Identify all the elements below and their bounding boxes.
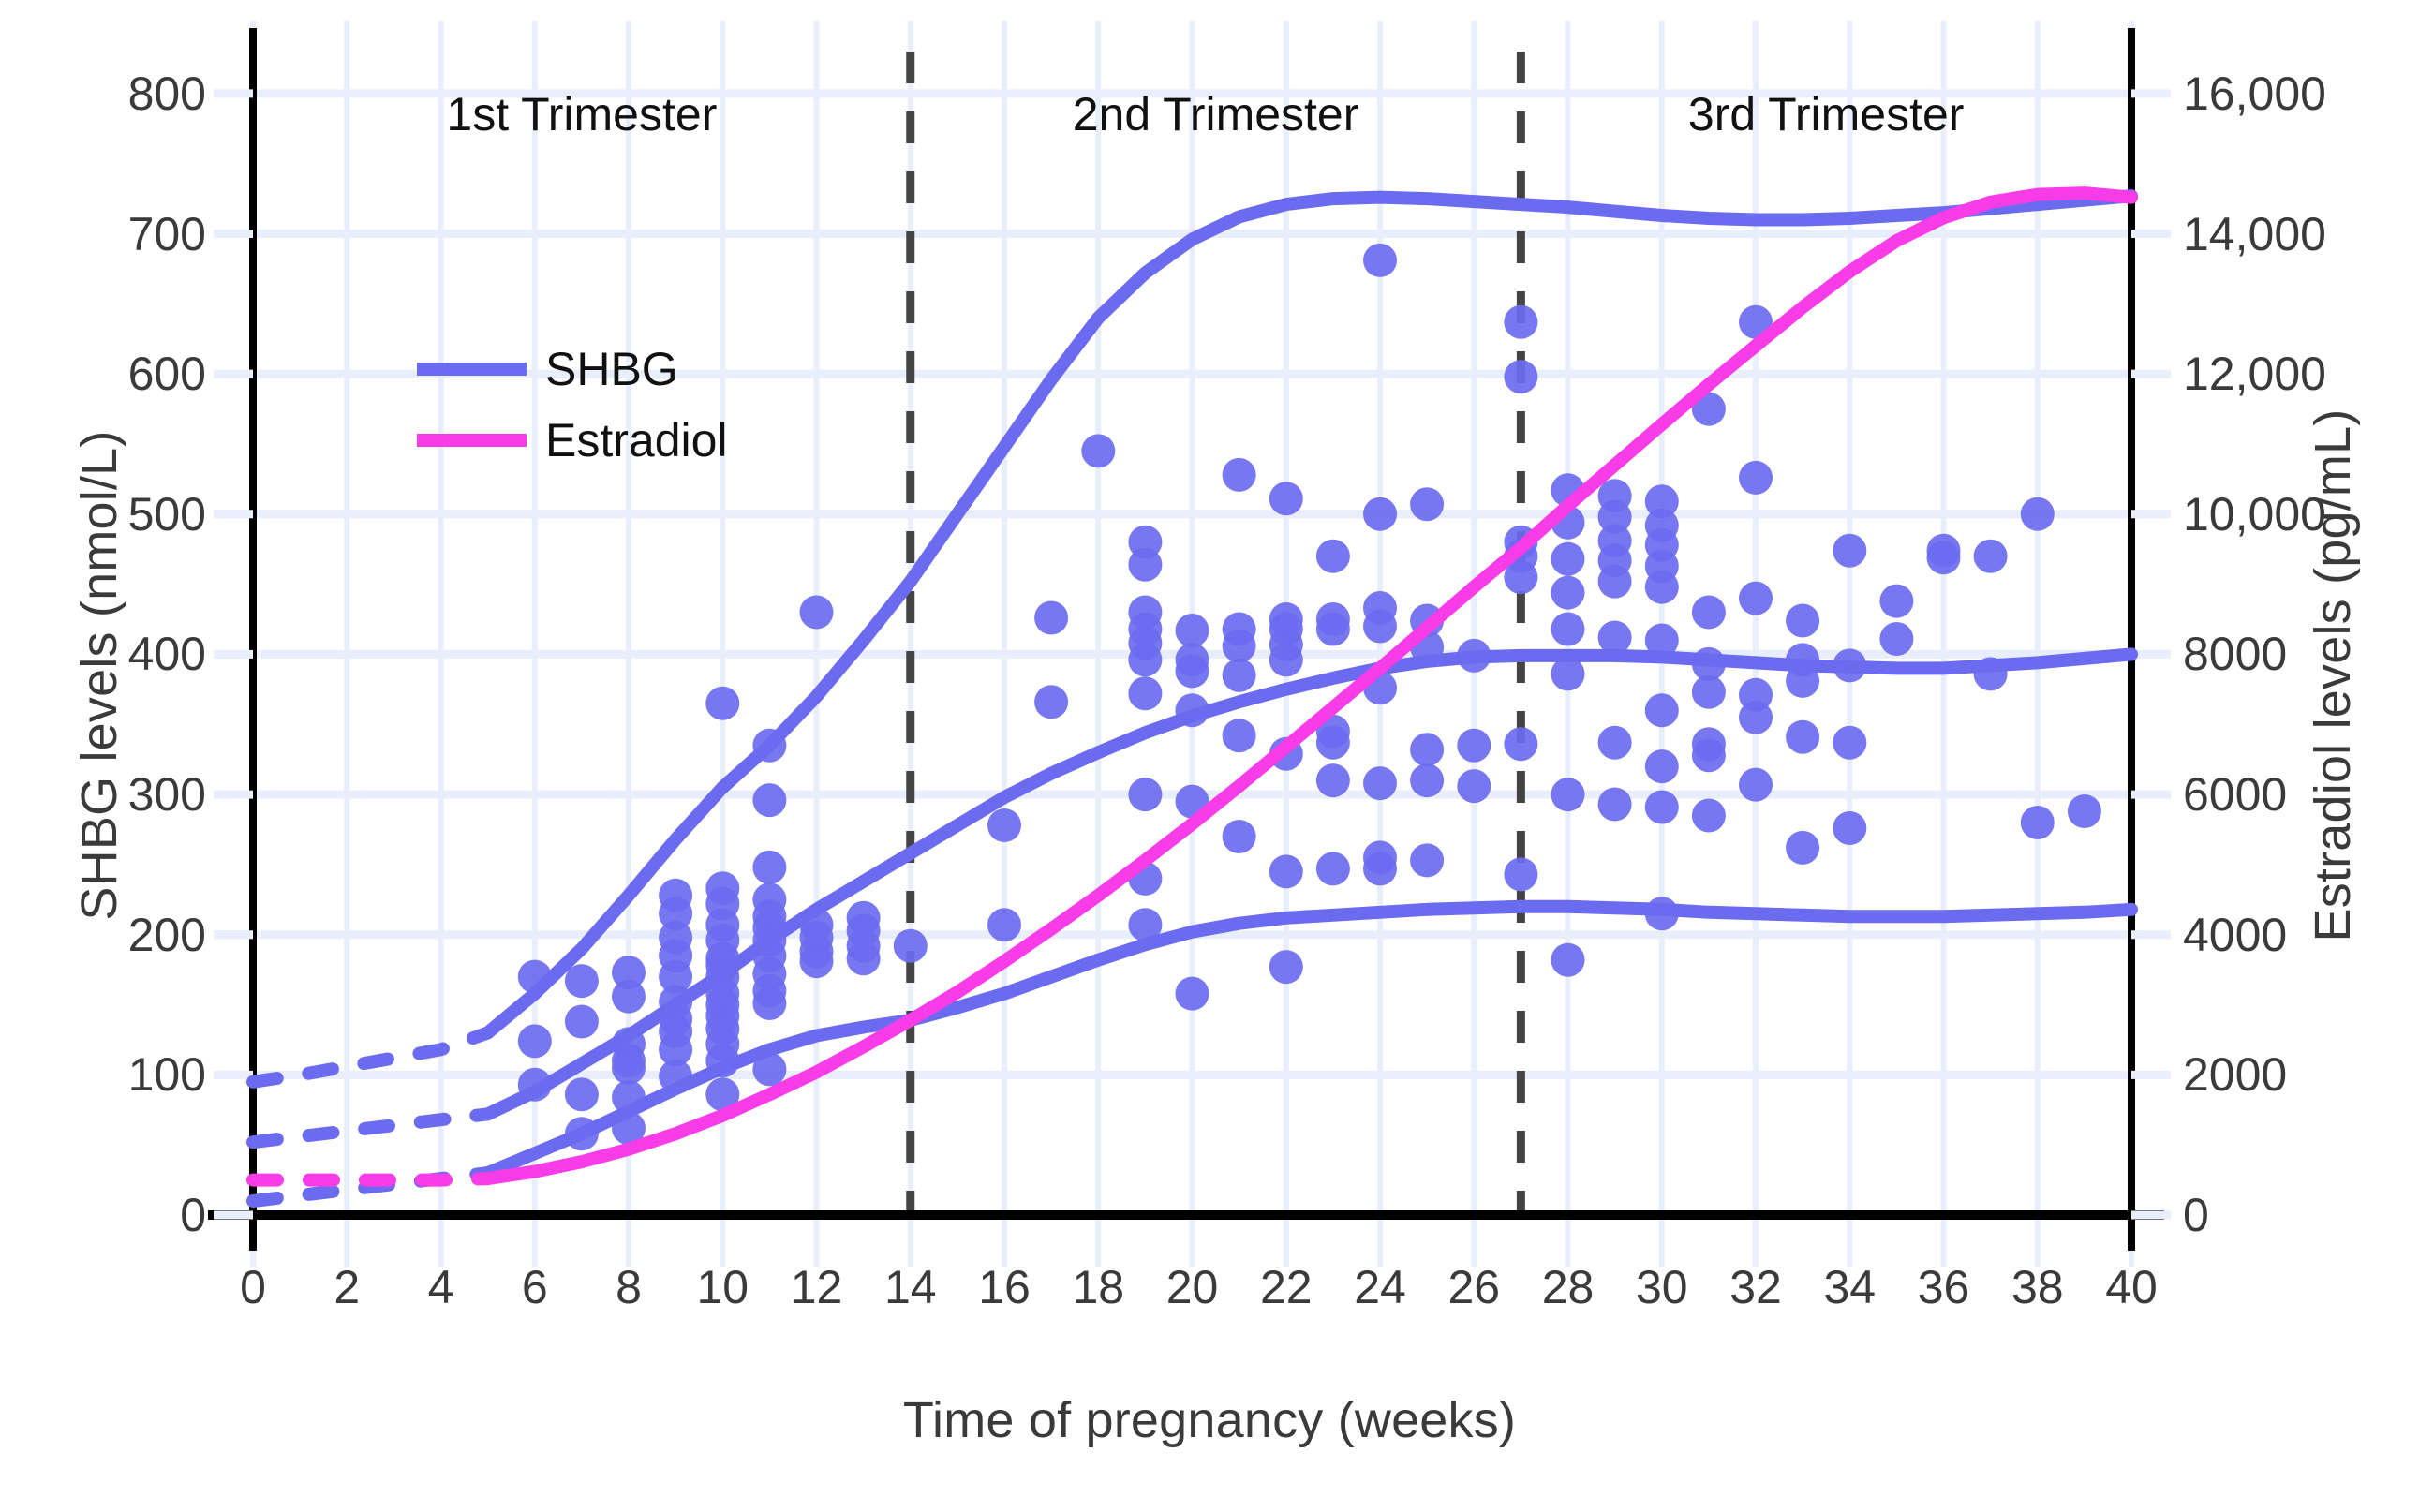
y-right-ticklabel: 6000 [2183,767,2287,822]
scatter-point [1551,542,1585,576]
scatter-point [1410,487,1444,521]
scatter-point [1176,614,1209,647]
scatter-point [1269,643,1303,676]
scatter-point [1739,461,1773,495]
y-right-ticklabel: 2000 [2183,1047,2287,1102]
y-left-ticklabel: 0 [56,1188,206,1242]
scatter-point [1457,769,1491,803]
y-right-ticklabel: 4000 [2183,908,2287,962]
scatter-point [1269,950,1303,984]
scatter-point [1598,565,1632,599]
y-right-ticklabel: 12,000 [2183,347,2326,401]
scatter-point [1551,778,1585,811]
scatter-point [1223,458,1256,492]
scatter-point [1223,630,1256,663]
scatter-point [1598,788,1632,822]
y-right-ticklabel: 14,000 [2183,207,2326,261]
scatter-point [1833,726,1866,760]
scatter-point [1551,613,1585,646]
legend-label-estradiol: Estradiol [545,413,728,467]
scatter-point [1223,820,1256,853]
scatter-point [1739,701,1773,734]
scatter-point [1598,726,1632,760]
scatter-point [1504,857,1537,891]
scatter-point [1833,534,1866,568]
y-right-ticklabel: 8000 [2183,627,2287,681]
scatter-point [1551,943,1585,977]
x-ticklabel: 16 [978,1260,1031,1314]
scatter-point [1786,604,1819,638]
scatter-point [752,783,786,817]
scatter-point [565,1077,599,1111]
y-right-ticklabel: 10,000 [2183,487,2326,541]
scatter-point [1410,763,1444,797]
y-right-ticklabel: 16,000 [2183,67,2326,121]
x-ticklabel: 12 [791,1260,843,1314]
y-left-ticklabel: 200 [56,908,206,962]
scatter-point [1692,738,1726,772]
scatter-point [1974,540,2008,573]
scatter-point [1081,434,1115,467]
scatter-point [987,908,1021,941]
x-ticklabel: 8 [616,1260,642,1314]
scatter-point [1363,244,1397,277]
x-ticklabel: 30 [1636,1260,1688,1314]
scatter-point [1363,766,1397,800]
x-ticklabel: 28 [1542,1260,1595,1314]
scatter-point [1034,685,1068,719]
scatter-point [1128,676,1162,710]
scatter-point [1692,799,1726,833]
scatter-point [1410,733,1444,766]
x-ticklabel: 14 [884,1260,937,1314]
gridlines [214,21,2141,1267]
scatter-point [1316,852,1350,885]
scatter-point [565,964,599,998]
x-ticklabel: 34 [1823,1260,1876,1314]
scatter-point [1645,749,1679,783]
legend-label-shbg: SHBG [545,342,678,396]
trimester-label-3: 3rd Trimester [1688,87,1965,141]
curve-shbg-median-extrapolated [253,1114,488,1142]
scatter-point [894,929,928,963]
x-ticklabel: 22 [1260,1260,1313,1314]
x-ticklabel: 36 [1918,1260,1970,1314]
scatter-point [1692,596,1726,630]
y-left-ticklabel: 400 [56,627,206,681]
x-ticklabel: 4 [428,1260,454,1314]
scatter-point [1316,726,1350,760]
x-ticklabel: 2 [334,1260,360,1314]
scatter-point [1739,768,1773,802]
y-axis-right-title: Estradiol levels (pg/mL) [2304,376,2362,975]
y-left-ticklabel: 300 [56,767,206,822]
scatter-point [1786,831,1819,865]
scatter-point [800,596,834,630]
scatter-point [847,941,881,975]
scatter-point [1269,482,1303,515]
scatter-point [1504,727,1537,761]
scatter-point [1176,654,1209,688]
scatter-point [1645,693,1679,727]
scatter-point [1786,720,1819,754]
scatter-point [1457,729,1491,763]
scatter-point [1269,854,1303,888]
scatter-point [1504,305,1537,339]
x-ticklabel: 32 [1729,1260,1782,1314]
scatter-point [705,687,739,720]
scatter-point [752,986,786,1020]
scatter-point [987,808,1021,842]
x-ticklabel: 20 [1166,1260,1219,1314]
scatter-point [1316,613,1350,646]
trimester-label-1: 1st Trimester [446,87,717,141]
scatter-points [518,244,2101,1150]
scatter-point [2021,806,2055,839]
legend-swatches [417,369,527,440]
scatter-point [1128,643,1162,676]
scatter-point [612,980,646,1014]
scatter-point [518,1024,552,1058]
scatter-point [1128,548,1162,582]
scatter-point [1223,719,1256,752]
chart-figure: SHBG levels (nmol/L) Estradiol levels (p… [0,0,2419,1512]
scatter-point [1363,497,1397,531]
curve-estradiol-extrapolated [253,1178,488,1180]
scatter-point [1645,791,1679,824]
scatter-point [1363,610,1397,644]
scatter-point [1927,541,1961,574]
scatter-point [1128,778,1162,811]
x-ticklabel: 0 [240,1260,266,1314]
x-ticklabel: 24 [1354,1260,1406,1314]
scatter-point [1879,622,1913,656]
x-ticklabel: 26 [1447,1260,1500,1314]
scatter-point [1833,811,1866,845]
scatter-point [1176,977,1209,1011]
scatter-point [752,851,786,884]
scatter-point [1739,582,1773,615]
y-left-ticklabel: 600 [56,347,206,401]
y-right-ticklabel: 0 [2183,1188,2209,1242]
scatter-point [1410,843,1444,877]
scatter-point [1692,675,1726,709]
scatter-point [2021,497,2055,531]
x-ticklabel: 10 [696,1260,749,1314]
scatter-point [1316,763,1350,797]
x-ticklabel: 18 [1072,1260,1124,1314]
x-ticklabel: 6 [522,1260,548,1314]
scatter-point [2068,794,2101,828]
scatter-point [1551,576,1585,610]
scatter-point [1034,601,1068,635]
x-ticklabel: 40 [2105,1260,2158,1314]
scatter-point [612,1051,646,1085]
y-left-ticklabel: 500 [56,487,206,541]
scatter-point [1879,585,1913,618]
y-left-ticklabel: 800 [56,67,206,121]
scatter-point [1645,571,1679,604]
y-left-ticklabel: 700 [56,207,206,261]
scatter-point [800,944,834,978]
scatter-point [1363,852,1397,885]
scatter-point [1504,360,1537,393]
trimester-label-2: 2nd Trimester [1073,87,1359,141]
y-left-ticklabel: 100 [56,1047,206,1102]
scatter-point [1316,540,1350,573]
scatter-point [1223,659,1256,692]
x-ticklabel: 38 [2011,1260,2064,1314]
scatter-point [565,1005,599,1039]
x-axis-title: Time of pregnancy (weeks) [0,1391,2419,1449]
